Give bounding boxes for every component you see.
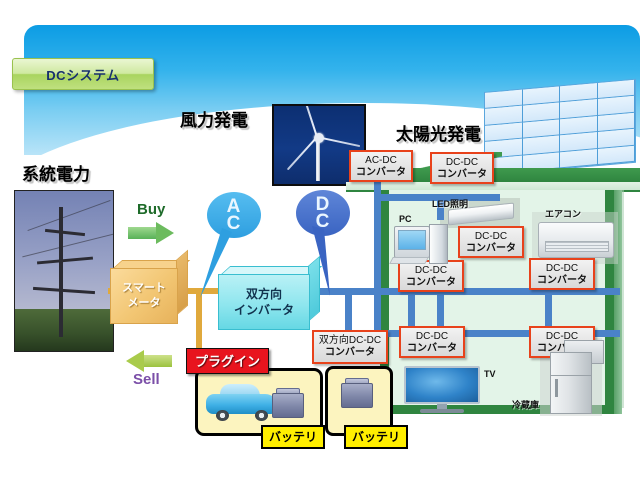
converter-acdc-wind[interactable]: AC-DC コンバータ bbox=[349, 150, 413, 182]
battery-label-car-text: バッテリ bbox=[269, 430, 317, 444]
plugin-label-text: プラグイン bbox=[195, 354, 260, 369]
buy-arrow-icon bbox=[128, 222, 174, 244]
dc-riser-left bbox=[374, 194, 381, 336]
battery-label-home: バッテリ bbox=[344, 425, 408, 449]
converter-acdc-wind-top: AC-DC bbox=[355, 155, 407, 167]
smart-meter-line2: メータ bbox=[128, 296, 161, 311]
pylon-mast-icon bbox=[59, 207, 63, 337]
aircon-icon bbox=[538, 222, 614, 258]
car-battery-icon bbox=[272, 388, 302, 416]
converter-dcdc-aircon-top: DC-DC bbox=[535, 263, 589, 275]
converter-dcdc-pc-bottom: コンバータ bbox=[404, 277, 458, 289]
smart-meter-block: スマート メータ bbox=[110, 260, 186, 322]
title-badge-label: DCシステム bbox=[46, 65, 119, 84]
fridge-label: 冷蔵庫 bbox=[512, 398, 539, 411]
smart-meter-line1: スマート bbox=[122, 281, 166, 296]
title-badge: DCシステム bbox=[12, 58, 154, 90]
sell-label: Sell bbox=[133, 371, 160, 388]
plugin-label: プラグイン bbox=[186, 348, 269, 374]
bidirectional-inverter-block: 双方向 インバータ bbox=[218, 266, 318, 328]
converter-dcdc-led-bottom: コンバータ bbox=[464, 243, 518, 255]
converter-dcdc-solar-top: DC-DC bbox=[436, 157, 488, 169]
converter-dcdc-pc-top: DC-DC bbox=[404, 265, 458, 277]
pc-icon bbox=[394, 224, 452, 266]
converter-dcdc-tv-bottom: コンバータ bbox=[405, 343, 459, 355]
battery-label-home-text: バッテリ bbox=[352, 430, 400, 444]
converter-dcdc-tv[interactable]: DC-DC コンバータ bbox=[399, 326, 465, 358]
fridge-icon bbox=[550, 352, 592, 414]
solar-panel-array bbox=[484, 79, 636, 176]
converter-bidirectional-dcdc[interactable]: 双方向DC-DC コンバータ bbox=[312, 330, 388, 364]
turbine-hub-icon bbox=[314, 133, 324, 143]
grid-power-heading: 系統電力 bbox=[22, 160, 90, 185]
inverter-front-face: 双方向 インバータ bbox=[218, 274, 310, 330]
turbine-blade-icon bbox=[287, 137, 318, 171]
tv-icon bbox=[404, 366, 480, 412]
solar-power-heading: 太陽光発電 bbox=[396, 120, 481, 145]
power-pylon-photo bbox=[14, 190, 114, 352]
converter-dcdc-aircon[interactable]: DC-DC コンバータ bbox=[529, 258, 595, 290]
led-label: LED照明 bbox=[432, 197, 468, 210]
inverter-line2: インバータ bbox=[234, 302, 294, 318]
home-battery-icon bbox=[341, 378, 375, 412]
converter-dcdc-tv-top: DC-DC bbox=[405, 331, 459, 343]
electric-car-icon bbox=[206, 382, 278, 420]
pc-label: PC bbox=[399, 214, 412, 224]
smart-meter-front-face: スマート メータ bbox=[110, 268, 178, 324]
converter-acdc-wind-bottom: コンバータ bbox=[355, 167, 407, 179]
converter-dcdc-solar-bottom: コンバータ bbox=[436, 169, 488, 181]
converter-bidir-top: 双方向DC-DC bbox=[318, 335, 382, 347]
converter-bidir-bottom: コンバータ bbox=[318, 347, 382, 359]
pylon-ground bbox=[15, 309, 113, 351]
converter-dcdc-aircon-bottom: コンバータ bbox=[535, 275, 589, 287]
aircon-label: エアコン bbox=[545, 207, 581, 220]
converter-dcdc-led[interactable]: DC-DC コンバータ bbox=[458, 226, 524, 258]
converter-dcdc-led-top: DC-DC bbox=[464, 231, 518, 243]
converter-dcdc-solar[interactable]: DC-DC コンバータ bbox=[430, 152, 494, 184]
wind-power-heading: 風力発電 bbox=[180, 106, 248, 131]
tv-label: TV bbox=[484, 369, 496, 379]
diagram-canvas: DCシステム 風力発電 太陽光発電 系統電力 bbox=[0, 0, 640, 480]
battery-label-car: バッテリ bbox=[261, 425, 325, 449]
sell-arrow-icon bbox=[126, 350, 172, 372]
inverter-line1: 双方向 bbox=[246, 286, 282, 302]
buy-label: Buy bbox=[137, 201, 165, 218]
